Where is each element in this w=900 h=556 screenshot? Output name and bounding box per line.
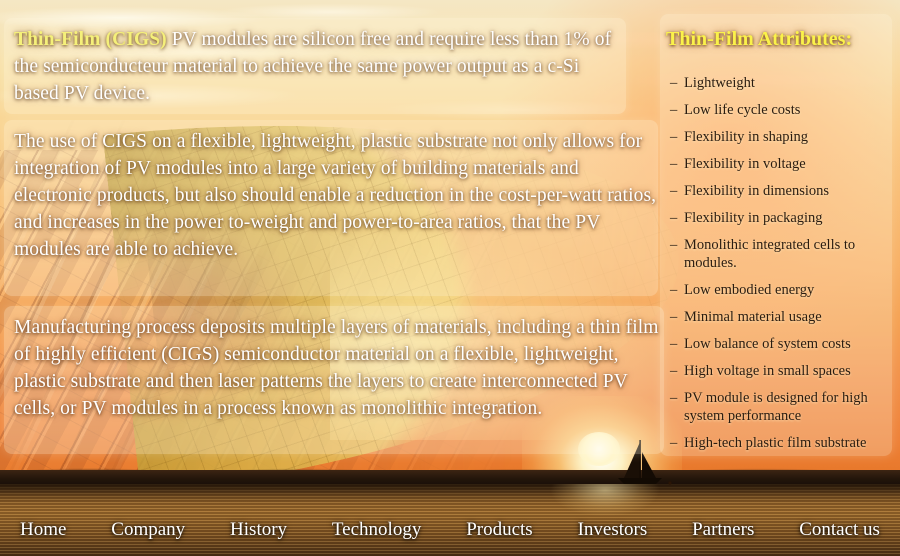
intro-lead-heading: Thin-Film (CIGS) (14, 29, 167, 50)
attribute-item-label: Lightweight (684, 75, 755, 91)
bullet-dash-icon: – (670, 101, 677, 119)
water-shadow-band (0, 484, 900, 504)
attribute-item: –High voltage in small spaces (670, 362, 890, 380)
attributes-list: –Lightweight–Low life cycle costs–Flexib… (670, 74, 890, 461)
attribute-item: –High-tech plastic film substrate (670, 434, 890, 452)
bullet-dash-icon: – (670, 155, 677, 173)
intro-lead-text: Thin-Film (C (14, 29, 126, 50)
attribute-item-label: Flexibility in packaging (684, 210, 823, 226)
paragraph-intro: Thin-Film (CIGS) PV modules are silicon … (14, 26, 626, 107)
nav-link-contact-us[interactable]: Contact us (799, 519, 880, 541)
bullet-dash-icon: – (670, 128, 677, 146)
attribute-item: –Lightweight (670, 74, 890, 92)
attribute-item: –Minimal material usage (670, 308, 890, 326)
attribute-item: –Low embodied energy (670, 281, 890, 299)
attribute-item-label: High voltage in small spaces (684, 363, 851, 379)
nav-link-partners[interactable]: Partners (692, 519, 754, 541)
bullet-dash-icon: – (670, 74, 677, 92)
attribute-item-label: Monolithic integrated cells to modules. (684, 237, 855, 271)
attribute-item-label: PV module is designed for high system pe… (684, 390, 868, 424)
nav-link-technology[interactable]: Technology (332, 519, 421, 541)
attribute-item-label: Low embodied energy (684, 282, 814, 298)
attribute-item: –Low life cycle costs (670, 101, 890, 119)
attribute-item: –PV module is designed for high system p… (670, 389, 890, 425)
attribute-item: –Monolithic integrated cells to modules. (670, 236, 890, 272)
nav-link-home[interactable]: Home (20, 519, 66, 541)
paragraph-flexible-substrate: The use of CIGS on a flexible, lightweig… (14, 128, 660, 263)
attribute-item: –Flexibility in dimensions (670, 182, 890, 200)
attribute-item: –Low balance of system costs (670, 335, 890, 353)
horizon-land-strip (0, 470, 900, 484)
attribute-item-label: Flexibility in dimensions (684, 183, 829, 199)
nav-link-investors[interactable]: Investors (578, 519, 648, 541)
attribute-item-label: High-tech plastic film substrate (684, 435, 866, 451)
bullet-dash-icon: – (670, 335, 677, 353)
attribute-item-label: Flexibility in voltage (684, 156, 806, 172)
intro-lead-smallcaps: IGS (126, 29, 160, 50)
bullet-dash-icon: – (670, 389, 677, 407)
bullet-dash-icon: – (670, 362, 677, 380)
attribute-item: –Flexibility in shaping (670, 128, 890, 146)
nav-link-company[interactable]: Company (111, 519, 185, 541)
attribute-item-label: Flexibility in shaping (684, 129, 808, 145)
attribute-item: –Flexibility in voltage (670, 155, 890, 173)
attributes-heading: Thin-Film Attributes: (666, 28, 892, 51)
paragraph-manufacturing: Manufacturing process deposits multiple … (14, 314, 664, 422)
bullet-dash-icon: – (670, 236, 677, 254)
nav-link-products[interactable]: Products (466, 519, 533, 541)
page-canvas: Thin-Film (CIGS) PV modules are silicon … (0, 0, 900, 556)
attribute-item-label: Low balance of system costs (684, 336, 851, 352)
bullet-dash-icon: – (670, 209, 677, 227)
attribute-item-label: Low life cycle costs (684, 102, 800, 118)
attribute-item-label: Minimal material usage (684, 309, 822, 325)
intro-lead-paren: ) (160, 29, 167, 50)
bullet-dash-icon: – (670, 308, 677, 326)
attribute-item: –Flexibility in packaging (670, 209, 890, 227)
bullet-dash-icon: – (670, 182, 677, 200)
nav-link-history[interactable]: History (230, 519, 287, 541)
main-navigation[interactable]: HomeCompanyHistoryTechnologyProductsInve… (0, 504, 900, 556)
bullet-dash-icon: – (670, 434, 677, 452)
bullet-dash-icon: – (670, 281, 677, 299)
